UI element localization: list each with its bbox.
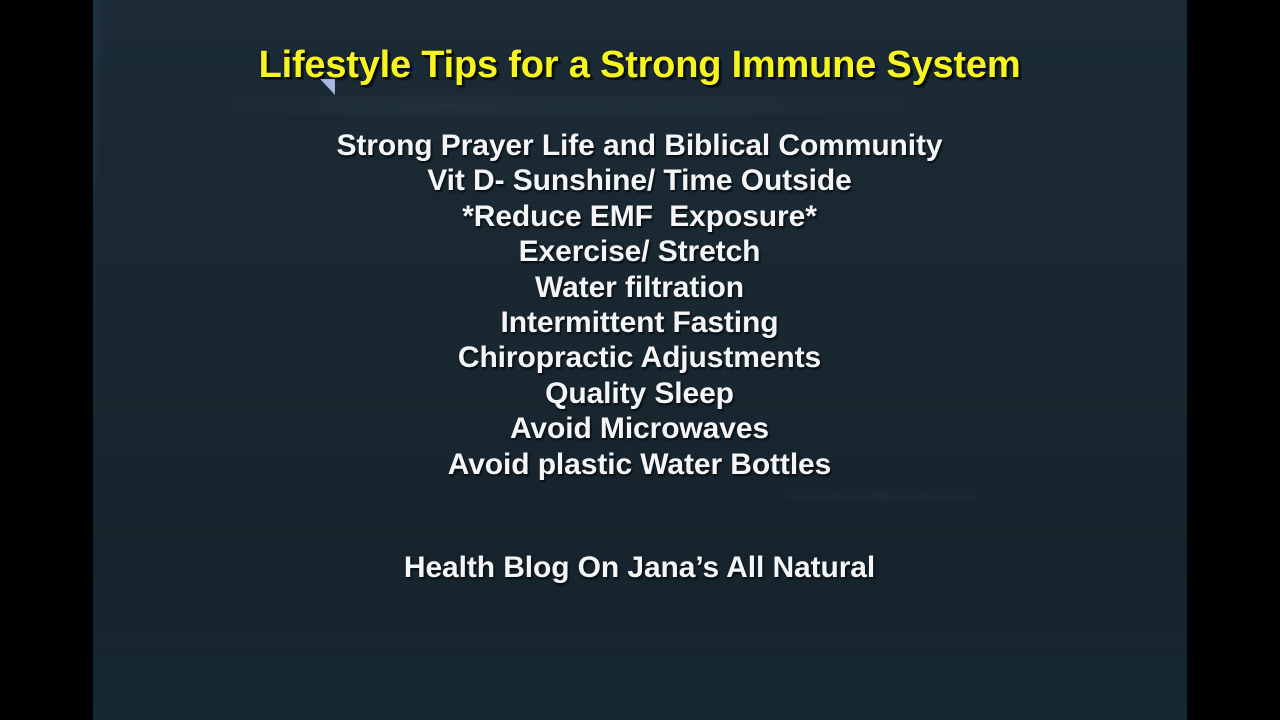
list-item: Chiropractic Adjustments: [92, 340, 1187, 375]
list-item: Avoid Microwaves: [92, 411, 1187, 446]
lifestyle-tips-list: Strong Prayer Life and Biblical Communit…: [92, 128, 1187, 482]
list-item: Vit D- Sunshine/ Time Outside: [92, 163, 1187, 198]
letterbox-bar-left: [0, 0, 93, 720]
list-item: Avoid plastic Water Bottles: [92, 447, 1187, 482]
presentation-slide: Lifestyle Tips for a Strong Immune Syste…: [92, 0, 1187, 720]
list-item: *Reduce EMF Exposure*: [92, 199, 1187, 234]
list-item: Quality Sleep: [92, 376, 1187, 411]
slide-content: Lifestyle Tips for a Strong Immune Syste…: [92, 0, 1187, 720]
letterbox-bar-right: [1187, 0, 1280, 720]
slide-footer-attribution: Health Blog On Jana’s All Natural: [92, 551, 1187, 585]
pointer-triangle-cursor-icon: [320, 79, 335, 95]
list-item: Exercise/ Stretch: [92, 234, 1187, 269]
list-item: Water filtration: [92, 270, 1187, 305]
video-player-frame: Lifestyle Tips for a Strong Immune Syste…: [0, 0, 1280, 720]
list-item: Strong Prayer Life and Biblical Communit…: [92, 128, 1187, 163]
slide-title: Lifestyle Tips for a Strong Immune Syste…: [92, 44, 1187, 87]
list-item: Intermittent Fasting: [92, 305, 1187, 340]
